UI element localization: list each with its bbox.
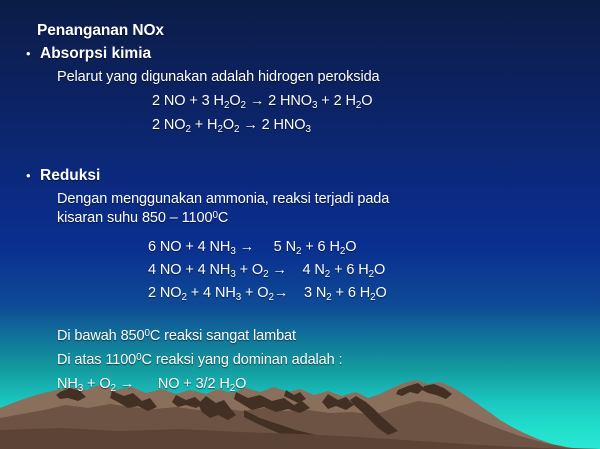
equation-reduksi-3: 2 NO2 + 4 NH3 + O2→ 3 N2 + 6 H2O [148,286,387,301]
equation-reduksi-1: 6 NO + 4 NH3 → 5 N2 + 6 H2O [148,240,356,255]
page-title: Penanganan NOx [37,23,164,39]
bullet-icon: • [26,169,40,182]
equation-reduksi-2: 4 NO + 4 NH3 + O2 → 4 N2 + 6 H2O [148,263,385,278]
reduksi-body-line-2: kisaran suhu 850 – 11000C [57,211,228,226]
section-heading-label: Absorpsi kimia [40,45,151,63]
slide-canvas: Penanganan NOx • Absorpsi kimia Pelarut … [0,0,600,449]
footer-line-1: Di bawah 8500C reaksi sangat lambat [57,329,296,344]
slide-content: Penanganan NOx • Absorpsi kimia Pelarut … [0,0,600,449]
reduksi-body-line-1: Dengan menggunakan ammonia, reaksi terja… [57,192,389,207]
bullet-icon: • [26,47,40,60]
absorpsi-body-line-1: Pelarut yang digunakan adalah hidrogen p… [57,70,380,85]
section-heading-reduksi: • Reduksi [26,167,100,185]
equation-absorpsi-2: 2 NO2 + H2O2 → 2 HNO3 [152,118,311,133]
section-heading-absorpsi: • Absorpsi kimia [26,45,151,63]
equation-absorpsi-1: 2 NO + 3 H2O2 → 2 HNO3 + 2 H2O [152,94,372,109]
footer-line-2: Di atas 11000C reaksi yang dominan adala… [57,353,342,368]
footer-line-3: NH3 + O2 → NO + 3/2 H2O [57,377,246,392]
section-heading-label: Reduksi [40,167,100,185]
